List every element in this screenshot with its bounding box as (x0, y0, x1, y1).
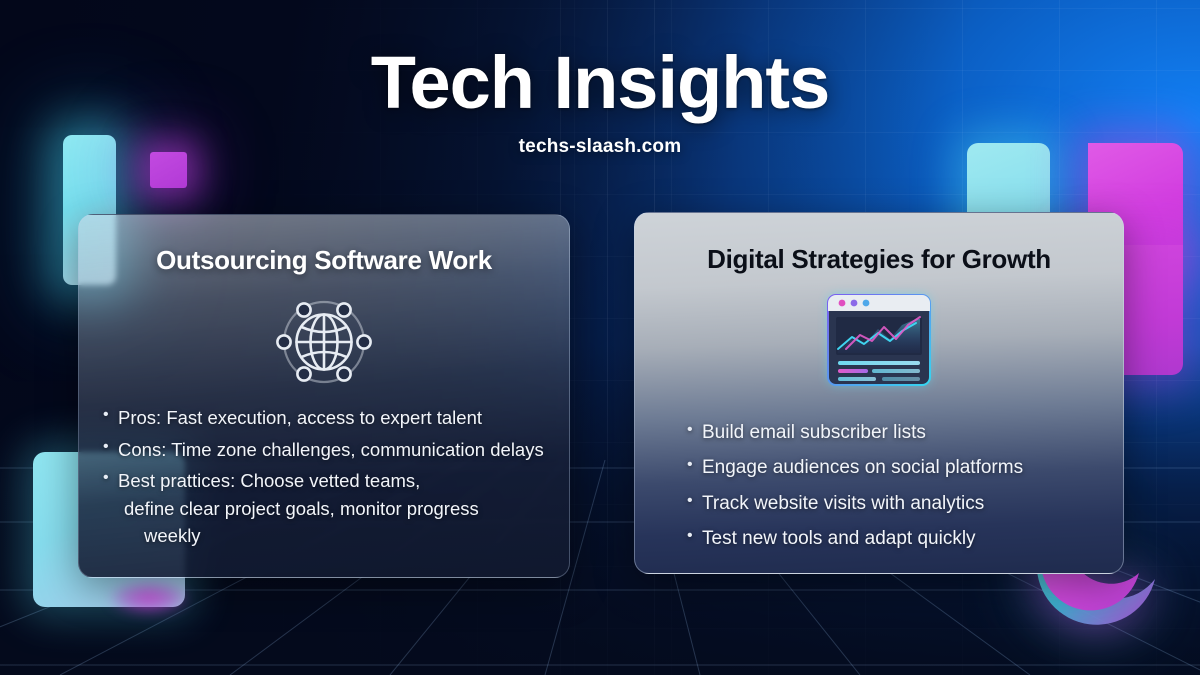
bullet-text-line3: weekly (118, 522, 569, 550)
page-title: Tech Insights (0, 46, 1200, 120)
slide-canvas: Tech Insights techs-slaash.com Outsourci… (0, 0, 1200, 675)
header: Tech Insights techs-slaash.com (0, 46, 1200, 158)
card-title-right: Digital Strategies for Growth (635, 244, 1123, 275)
list-item: Test new tools and adapt quickly (687, 525, 1123, 553)
card-title-left: Outsourcing Software Work (79, 245, 569, 276)
bullet-text: Build email subscriber lists (702, 422, 926, 443)
bullet-text: Test new tools and adapt quickly (702, 528, 976, 549)
bullet-text: Track website visits with analytics (702, 493, 984, 514)
card-outsourcing-software-work[interactable]: Outsourcing Software Work (78, 214, 570, 578)
globe-network-icon (79, 286, 569, 398)
bullet-list-right: Build email subscriber lists Engage audi… (635, 419, 1123, 553)
list-item: Build email subscriber lists (687, 419, 1123, 447)
bullet-text-line2: define clear project goals, monitor prog… (118, 495, 569, 523)
bullet-text: Pros: Fast execution, access to expert t… (118, 407, 482, 428)
list-item: Engage audiences on social platforms (687, 454, 1123, 482)
website-url: techs-slaash.com (0, 136, 1200, 158)
list-item: Cons: Time zone challenges, communicatio… (103, 436, 569, 464)
bullet-list-left: Pros: Fast execution, access to expert t… (79, 404, 569, 550)
card-digital-strategies-for-growth[interactable]: Digital Strategies for Growth (634, 212, 1124, 574)
bullet-text: Cons: Time zone challenges, communicatio… (118, 439, 544, 460)
bullet-text: Best prattices: Choose vetted teams, (118, 470, 420, 491)
list-item: Best prattices: Choose vetted teams, def… (103, 467, 569, 550)
list-item: Track website visits with analytics (687, 490, 1123, 518)
list-item: Pros: Fast execution, access to expert t… (103, 404, 569, 432)
browser-analytics-icon (635, 285, 1123, 397)
bullet-text: Engage audiences on social platforms (702, 457, 1023, 478)
